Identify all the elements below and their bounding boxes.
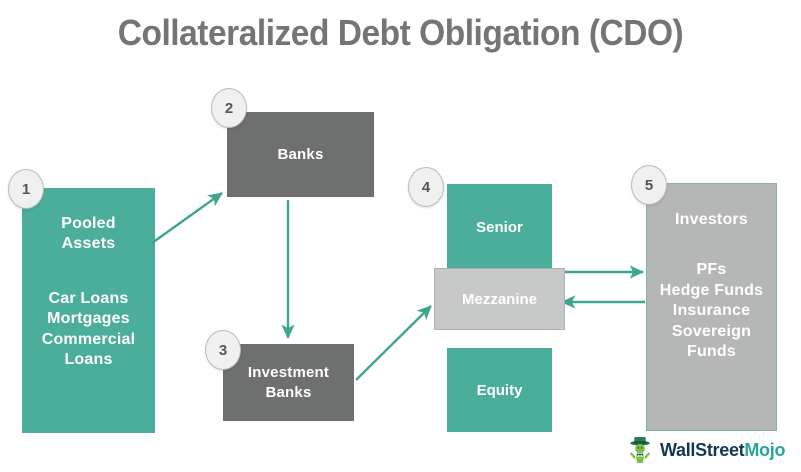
mascot-tophat-icon	[625, 435, 655, 465]
step-badge-5: 5	[631, 165, 667, 205]
step-badge-2: 2	[211, 88, 247, 128]
investors-items: PFs Hedge Funds Insurance Sovereign Fund…	[660, 260, 764, 362]
node-tranches: Senior Equity Mezzanine	[447, 184, 552, 432]
step-badge-3: 3	[205, 330, 241, 370]
tranche-senior: Senior	[447, 184, 552, 270]
investors-heading: Investors	[675, 210, 748, 230]
logo-wordmark: WallStreetMojo	[660, 440, 785, 461]
cdo-diagram: Collateralized Debt Obligation (CDO)	[0, 0, 801, 472]
logo-text-wallstreet: WallStreet	[660, 440, 744, 460]
node-pooled-assets: Pooled Assets Car Loans Mortgages Commer…	[22, 188, 155, 433]
tranche-mezzanine: Mezzanine	[434, 268, 565, 330]
step-badge-4: 4	[408, 167, 444, 207]
node-banks: Banks	[227, 112, 374, 197]
step-badge-1: 1	[8, 169, 44, 209]
pooled-assets-items: Car Loans Mortgages Commercial Loans	[42, 289, 136, 371]
node-investment-banks: Investment Banks	[223, 344, 354, 421]
page-title: Collateralized Debt Obligation (CDO)	[28, 12, 773, 54]
wallstreetmojo-logo: WallStreetMojo	[625, 434, 785, 466]
pooled-assets-heading: Pooled Assets	[61, 214, 116, 255]
tranche-equity: Equity	[447, 348, 552, 432]
arrow-pooled-assets-to-banks	[152, 193, 222, 243]
arrow-investment-banks-to-mezzanine	[356, 306, 431, 380]
banks-label: Banks	[277, 145, 323, 164]
node-investors: Investors PFs Hedge Funds Insurance Sove…	[646, 183, 777, 431]
logo-text-mojo: Mojo	[744, 440, 785, 460]
